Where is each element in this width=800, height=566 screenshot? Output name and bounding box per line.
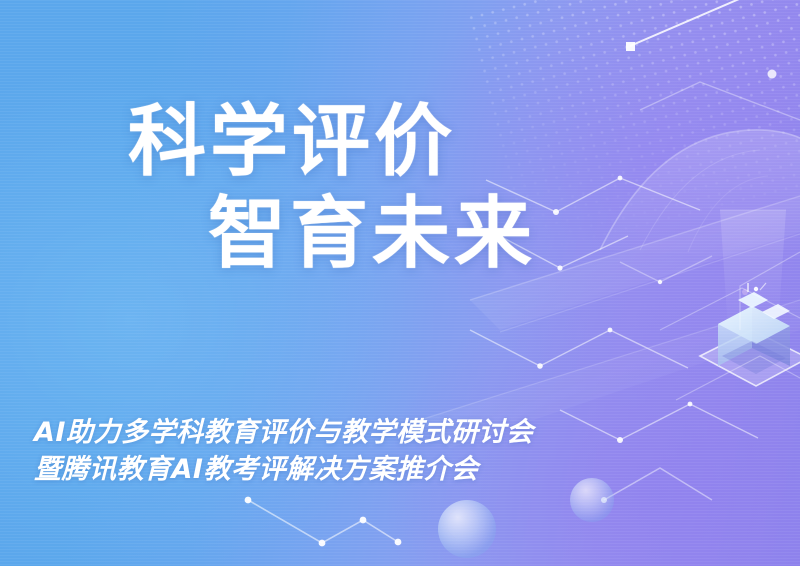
top-right-connector-icon bbox=[626, 0, 777, 79]
headline-line-1: 科学评价 bbox=[128, 96, 800, 188]
subtitle-line-1: AI助力多学科教育评价与教学模式研讨会 bbox=[34, 414, 533, 451]
subtitle-line-2: 暨腾讯教育AI教考评解决方案推介会 bbox=[34, 451, 533, 488]
node-polyline-icon bbox=[245, 497, 402, 547]
chevron-outline-icon bbox=[601, 468, 712, 503]
title-block: 科学评价 智育未来 bbox=[0, 96, 800, 280]
subtitle-block: AI助力多学科教育评价与教学模式研讨会 暨腾讯教育AI教考评解决方案推介会 bbox=[34, 414, 533, 489]
headline-line-2: 智育未来 bbox=[208, 188, 800, 280]
event-banner: 科学评价 智育未来 AI助力多学科教育评价与教学模式研讨会 暨腾讯教育AI教考评… bbox=[0, 0, 800, 566]
